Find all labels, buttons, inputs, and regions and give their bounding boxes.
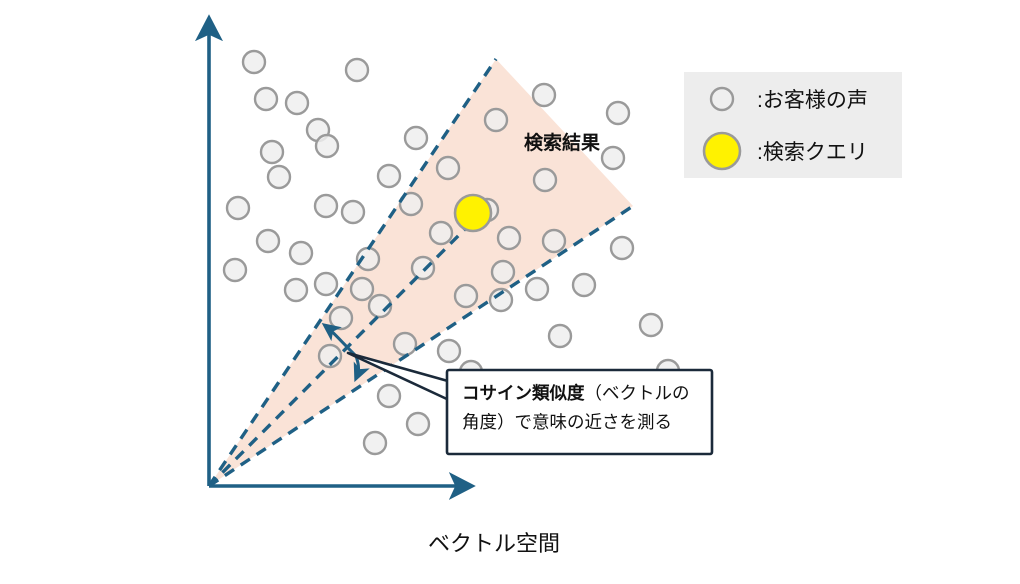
customer-voice-dot <box>257 230 279 252</box>
customer-voice-dot <box>412 257 434 279</box>
customer-voice-dot <box>640 314 662 336</box>
customer-voice-dot <box>394 333 416 355</box>
customer-voice-dot <box>364 432 386 454</box>
callout-line1-rest: （ベクトルの <box>585 383 690 403</box>
search-result-label: 検索結果 <box>524 131 600 154</box>
customer-voice-dot <box>378 385 400 407</box>
customer-voice-dot <box>378 165 400 187</box>
customer-voice-dot <box>268 166 290 188</box>
customer-voice-dot <box>573 274 595 296</box>
customer-voice-dot <box>438 340 460 362</box>
customer-voice-dot <box>227 197 249 219</box>
customer-voice-dot <box>543 230 565 252</box>
legend-marker-customer-voice <box>711 88 733 110</box>
figure-root: 検索結果 コサイン類似度（ベクトルの 角度）で意味の近さを測る :お客様の声 :… <box>0 0 1020 584</box>
customer-voice-dot <box>549 325 571 347</box>
customer-voice-dot <box>285 279 307 301</box>
customer-voice-dot <box>224 259 246 281</box>
legend-label-search-query: :検索クエリ <box>757 141 868 164</box>
customer-voice-dot <box>346 59 368 81</box>
customer-voice-dot <box>602 147 624 169</box>
customer-voice-dot <box>261 141 283 163</box>
customer-voice-dot <box>485 109 507 131</box>
customer-voice-dot <box>492 261 514 283</box>
search-query-point <box>455 195 491 231</box>
customer-voice-dot <box>315 195 337 217</box>
vector-space-diagram: 検索結果 コサイン類似度（ベクトルの 角度）で意味の近さを測る :お客様の声 :… <box>0 0 1020 584</box>
customer-voice-dot <box>437 157 459 179</box>
customer-voice-dot <box>405 127 427 149</box>
customer-voice-dot <box>316 135 338 157</box>
customer-voice-dot <box>407 413 429 435</box>
customer-voice-dot <box>455 285 477 307</box>
customer-voice-dot <box>498 227 520 249</box>
customer-voice-dot <box>534 169 556 191</box>
customer-voice-dot <box>351 278 373 300</box>
customer-voice-dot <box>243 51 265 73</box>
customer-voice-dot <box>607 102 629 124</box>
figure-caption: ベクトル空間 <box>428 531 560 556</box>
legend-marker-search-query <box>704 133 740 169</box>
customer-voice-dot <box>330 307 352 329</box>
customer-voice-dot <box>255 88 277 110</box>
customer-voice-dot <box>315 273 337 295</box>
callout-line1-bold: コサイン類似度 <box>462 383 585 403</box>
callout-line-1: コサイン類似度（ベクトルの <box>462 383 690 403</box>
customer-voice-dot <box>611 237 633 259</box>
customer-voice-dot <box>533 84 555 106</box>
customer-voice-dot <box>342 201 364 223</box>
customer-voice-dot <box>286 92 308 114</box>
legend-label-customer-voice: :お客様の声 <box>757 89 868 112</box>
customer-voice-dot <box>526 278 548 300</box>
customer-voice-dot <box>430 222 452 244</box>
callout-line-2: 角度）で意味の近さを測る <box>462 412 672 432</box>
customer-voice-dot <box>290 242 312 264</box>
